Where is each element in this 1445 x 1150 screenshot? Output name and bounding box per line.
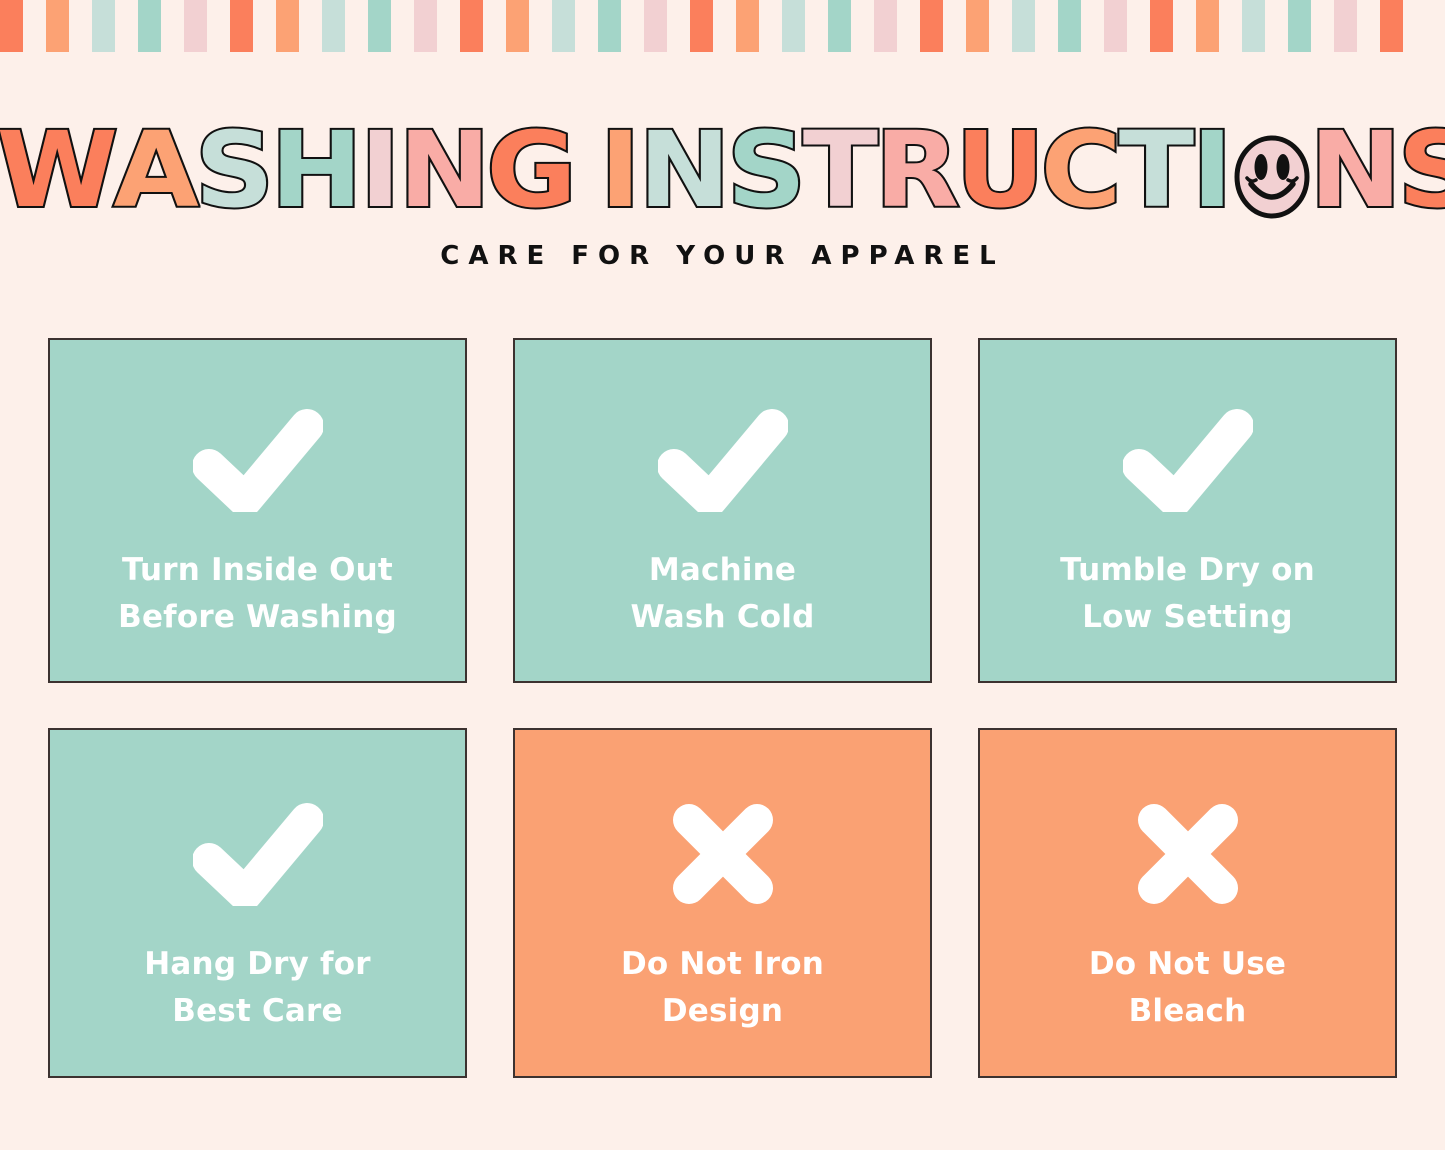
stripe-segment — [1058, 0, 1081, 52]
stripe-segment — [874, 0, 897, 52]
stripe-segment — [920, 0, 943, 52]
check-icon — [193, 796, 323, 911]
title-letter: S — [195, 118, 275, 222]
stripe-segment — [506, 0, 529, 52]
stripe-gap — [759, 0, 782, 52]
cross-icon — [669, 796, 777, 911]
stripe-gap — [1403, 0, 1426, 52]
stripe-gap — [23, 0, 46, 52]
stripe-segment — [644, 0, 667, 52]
stripe-gap — [207, 0, 230, 52]
stripe-segment — [184, 0, 207, 52]
smiley-face-icon — [1233, 134, 1311, 220]
stripe-gap — [1173, 0, 1196, 52]
stripe-segment — [322, 0, 345, 52]
stripe-segment — [46, 0, 69, 52]
stripe-segment — [460, 0, 483, 52]
stripe-segment — [782, 0, 805, 52]
stripe-segment — [1288, 0, 1311, 52]
stripe-segment — [828, 0, 851, 52]
care-card-label: Turn Inside Out Before Washing — [118, 547, 397, 641]
stripe-gap — [989, 0, 1012, 52]
stripe-gap — [529, 0, 552, 52]
stripe-gap — [1357, 0, 1380, 52]
stripe-segment — [276, 0, 299, 52]
stripe-segment — [230, 0, 253, 52]
stripe-segment — [690, 0, 713, 52]
stripe-segment — [92, 0, 115, 52]
care-card-turn-inside-out: Turn Inside Out Before Washing — [48, 338, 467, 683]
stripe-gap — [391, 0, 414, 52]
stripe-segment — [1242, 0, 1265, 52]
title-letter: G — [486, 118, 578, 222]
care-card-label: Hang Dry for Best Care — [144, 941, 370, 1035]
stripe-segment — [1150, 0, 1173, 52]
stripe-segment — [1334, 0, 1357, 52]
stripe-gap — [115, 0, 138, 52]
stripe-segment — [1104, 0, 1127, 52]
care-card-machine-wash-cold: Machine Wash Cold — [513, 338, 932, 683]
stripe-gap — [483, 0, 506, 52]
title-letter: I — [360, 118, 402, 222]
stripe-gap — [1035, 0, 1058, 52]
title-block: WASHINGINSTRUCTINS — [0, 118, 1445, 222]
stripe-gap — [805, 0, 828, 52]
stripe-segment — [736, 0, 759, 52]
stripe-gap — [161, 0, 184, 52]
care-card-do-not-bleach: Do Not Use Bleach — [978, 728, 1397, 1078]
stripe-segment — [966, 0, 989, 52]
title-letter: C — [1041, 118, 1123, 222]
page-subtitle: CARE FOR YOUR APPAREL — [0, 241, 1445, 271]
check-icon — [193, 402, 323, 517]
stripe-gap — [437, 0, 460, 52]
title-letter: N — [638, 118, 731, 222]
stripe-segment — [414, 0, 437, 52]
title-letter: A — [113, 118, 199, 222]
decorative-stripe-band — [0, 0, 1445, 52]
title-letter: T — [803, 118, 879, 222]
stripe-gap — [1311, 0, 1334, 52]
stripe-gap — [69, 0, 92, 52]
care-card-tumble-dry-low: Tumble Dry on Low Setting — [978, 338, 1397, 683]
title-letter: T — [1119, 118, 1195, 222]
title-letter: R — [874, 118, 960, 222]
stripe-segment — [0, 0, 23, 52]
stripe-gap — [299, 0, 322, 52]
stripe-gap — [1219, 0, 1242, 52]
title-letter: W — [0, 118, 119, 222]
stripe-gap — [1127, 0, 1150, 52]
stripe-segment — [552, 0, 575, 52]
title-letter: I — [1192, 118, 1234, 222]
title-letter: H — [270, 118, 363, 222]
stripe-gap — [1265, 0, 1288, 52]
stripe-segment — [1012, 0, 1035, 52]
check-icon — [1123, 402, 1253, 517]
stripe-gap — [575, 0, 598, 52]
stripe-gap — [1081, 0, 1104, 52]
title-letter: S — [1398, 118, 1445, 222]
stripe-gap — [943, 0, 966, 52]
stripe-gap — [851, 0, 874, 52]
care-instruction-grid: Turn Inside Out Before WashingMachine Wa… — [48, 338, 1398, 1078]
stripe-gap — [253, 0, 276, 52]
title-letter: I — [600, 118, 642, 222]
title-letter: N — [398, 118, 491, 222]
stripe-gap — [345, 0, 368, 52]
care-card-label: Do Not Use Bleach — [1089, 941, 1286, 1035]
check-icon — [658, 402, 788, 517]
stripe-gap — [667, 0, 690, 52]
title-letter: S — [727, 118, 807, 222]
stripe-gap — [713, 0, 736, 52]
stripe-segment — [1380, 0, 1403, 52]
stripe-gap — [897, 0, 920, 52]
page-title: WASHINGINSTRUCTINS — [0, 118, 1445, 222]
care-card-label: Tumble Dry on Low Setting — [1060, 547, 1315, 641]
care-card-do-not-iron: Do Not Iron Design — [513, 728, 932, 1078]
care-card-label: Do Not Iron Design — [621, 941, 824, 1035]
cross-icon — [1134, 796, 1242, 911]
stripe-gap — [621, 0, 644, 52]
stripe-segment — [368, 0, 391, 52]
care-card-label: Machine Wash Cold — [631, 547, 815, 641]
title-letter: N — [1310, 118, 1403, 222]
care-card-hang-dry: Hang Dry for Best Care — [48, 728, 467, 1078]
title-letter: U — [955, 118, 1046, 222]
stripe-segment — [598, 0, 621, 52]
stripe-segment — [138, 0, 161, 52]
stripe-segment — [1196, 0, 1219, 52]
